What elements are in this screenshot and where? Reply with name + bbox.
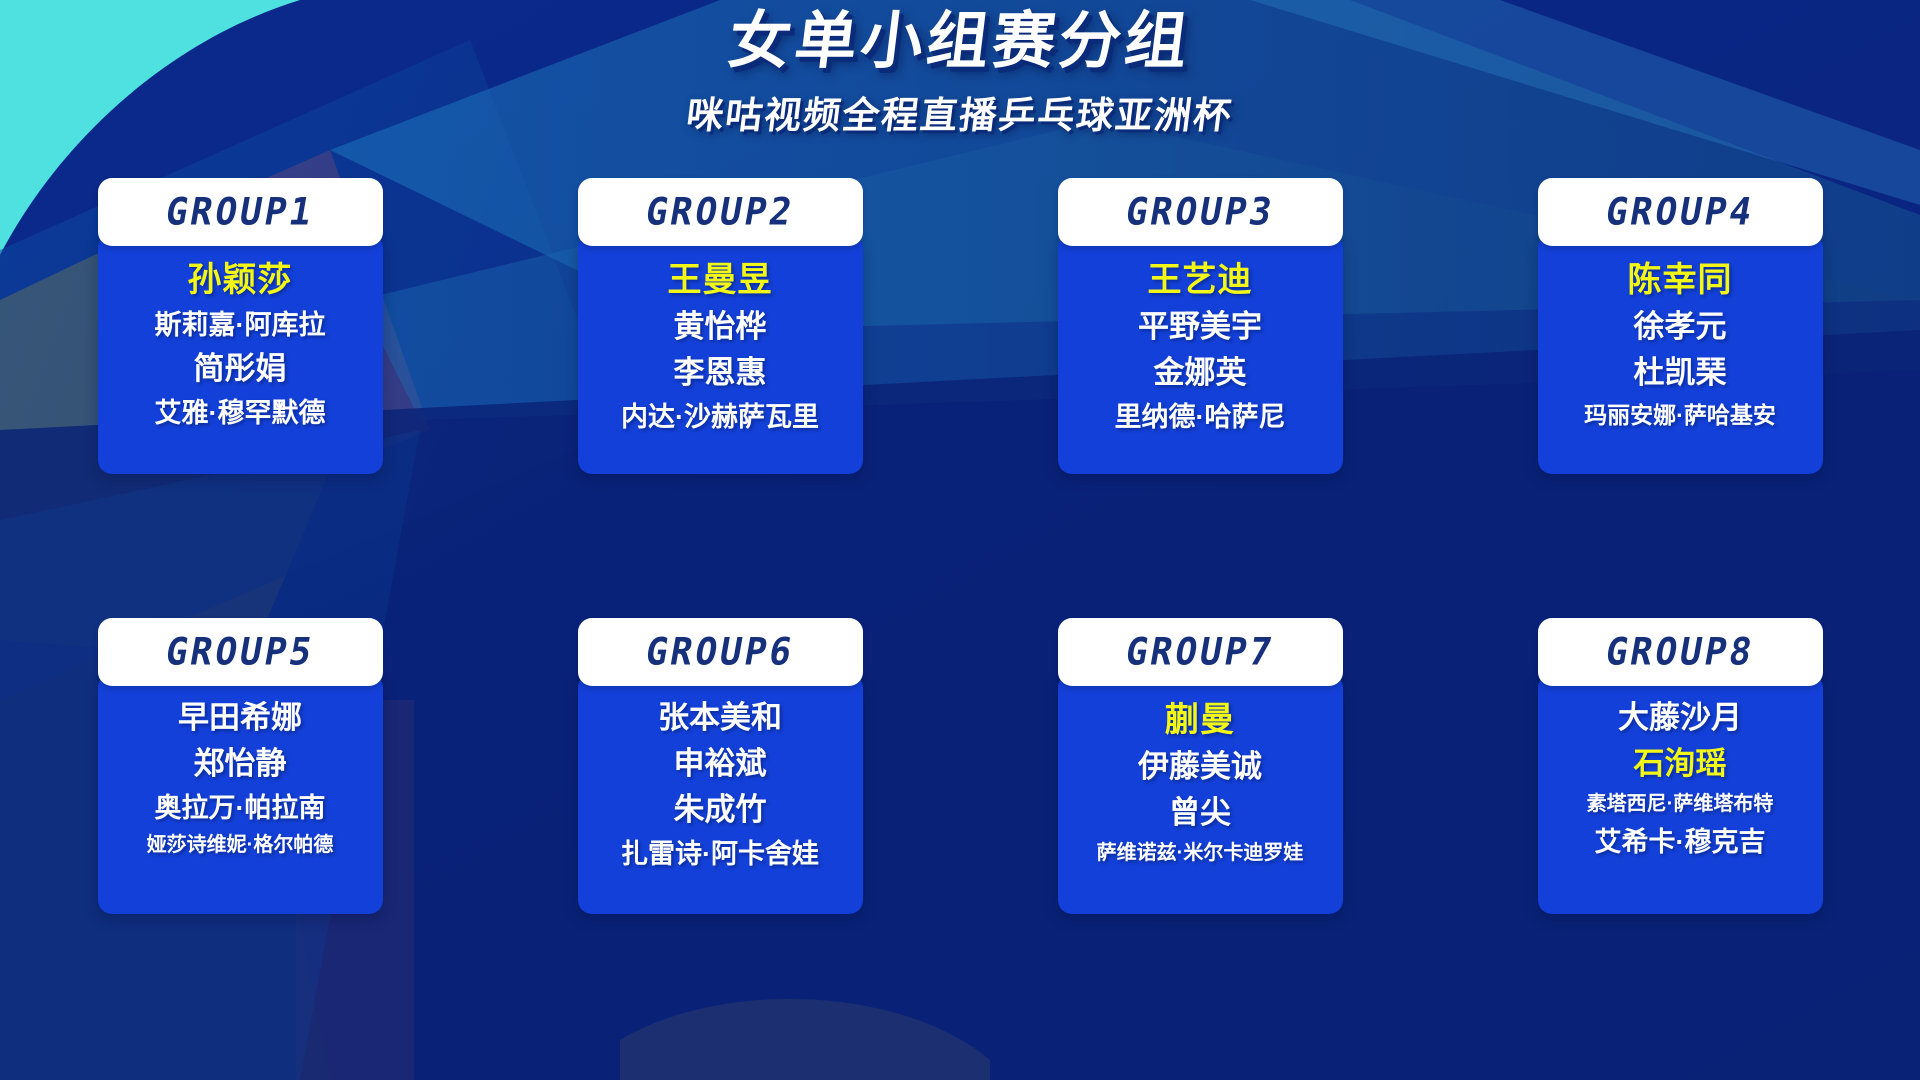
- player-name: 李恩惠: [674, 357, 767, 390]
- group-cell: GROUP1孙颖莎斯莉嘉·阿库拉简彤娟艾雅·穆罕默德: [0, 178, 480, 618]
- player-name: 娅莎诗维妮·格尔帕德: [147, 835, 334, 856]
- group-player-list: 张本美和申裕斌朱成竹扎雷诗·阿卡舍娃: [578, 674, 863, 914]
- group-name-label: GROUP3: [1122, 190, 1278, 233]
- player-name: 申裕斌: [674, 748, 767, 781]
- group-player-list: 王艺迪平野美宇金娜英里纳德·哈萨尼: [1058, 234, 1343, 474]
- player-name: 金娜英: [1154, 357, 1247, 390]
- group-cell: GROUP2王曼昱黄怡桦李恩惠内达·沙赫萨瓦里: [480, 178, 960, 618]
- player-name-seeded: 孙颖莎: [188, 262, 293, 298]
- player-name: 郑怡静: [194, 748, 287, 781]
- group-name-label: GROUP8: [1602, 630, 1758, 673]
- player-name: 扎雷诗·阿卡舍娃: [621, 840, 819, 869]
- player-name: 素塔西尼·萨维塔布特: [1587, 794, 1774, 815]
- group-card[interactable]: GROUP7蒯曼伊藤美诚曾尖萨维诺兹·米尔卡迪罗娃: [1058, 618, 1343, 914]
- group-player-list: 陈幸同徐孝元杜凯琹玛丽安娜·萨哈基安: [1538, 234, 1823, 474]
- group-card[interactable]: GROUP8大藤沙月石洵瑶素塔西尼·萨维塔布特艾希卡·穆克吉: [1538, 618, 1823, 914]
- group-card[interactable]: GROUP6张本美和申裕斌朱成竹扎雷诗·阿卡舍娃: [578, 618, 863, 914]
- player-name-seeded: 王曼昱: [668, 262, 773, 298]
- group-card[interactable]: GROUP2王曼昱黄怡桦李恩惠内达·沙赫萨瓦里: [578, 178, 863, 474]
- player-name: 平野美宇: [1138, 311, 1262, 344]
- group-name-label: GROUP6: [642, 630, 798, 673]
- group-player-list: 王曼昱黄怡桦李恩惠内达·沙赫萨瓦里: [578, 234, 863, 474]
- player-name: 内达·沙赫萨瓦里: [621, 403, 819, 432]
- player-name: 奥拉万·帕拉南: [155, 794, 326, 823]
- player-name: 简彤娟: [194, 353, 287, 386]
- player-name: 斯莉嘉·阿库拉: [155, 311, 326, 340]
- group-player-list: 大藤沙月石洵瑶素塔西尼·萨维塔布特艾希卡·穆克吉: [1538, 674, 1823, 914]
- group-card[interactable]: GROUP5早田希娜郑怡静奥拉万·帕拉南娅莎诗维妮·格尔帕德: [98, 618, 383, 914]
- player-name: 大藤沙月: [1618, 702, 1742, 735]
- group-name-label: GROUP7: [1122, 630, 1278, 673]
- player-name: 艾希卡·穆克吉: [1595, 828, 1766, 857]
- page-title: 女单小组赛分组: [725, 8, 1195, 75]
- group-cell: GROUP5早田希娜郑怡静奥拉万·帕拉南娅莎诗维妮·格尔帕德: [0, 618, 480, 1058]
- group-header: GROUP6: [578, 618, 863, 686]
- player-name-seeded: 蒯曼: [1165, 702, 1235, 738]
- group-header: GROUP8: [1538, 618, 1823, 686]
- player-name-seeded: 王艺迪: [1148, 262, 1253, 298]
- group-name-label: GROUP4: [1602, 190, 1758, 233]
- group-cell: GROUP4陈幸同徐孝元杜凯琹玛丽安娜·萨哈基安: [1440, 178, 1920, 618]
- group-header: GROUP3: [1058, 178, 1343, 246]
- group-name-label: GROUP2: [642, 190, 798, 233]
- player-name: 杜凯琹: [1634, 357, 1727, 390]
- player-name: 玛丽安娜·萨哈基安: [1584, 403, 1776, 427]
- group-cell: GROUP7蒯曼伊藤美诚曾尖萨维诺兹·米尔卡迪罗娃: [960, 618, 1440, 1058]
- group-card[interactable]: GROUP1孙颖莎斯莉嘉·阿库拉简彤娟艾雅·穆罕默德: [98, 178, 383, 474]
- player-name: 里纳德·哈萨尼: [1115, 403, 1286, 432]
- player-name-seeded: 石洵瑶: [1634, 748, 1727, 781]
- group-player-list: 早田希娜郑怡静奥拉万·帕拉南娅莎诗维妮·格尔帕德: [98, 674, 383, 914]
- group-cell: GROUP6张本美和申裕斌朱成竹扎雷诗·阿卡舍娃: [480, 618, 960, 1058]
- player-name: 萨维诺兹·米尔卡迪罗娃: [1097, 843, 1304, 864]
- group-cell: GROUP8大藤沙月石洵瑶素塔西尼·萨维塔布特艾希卡·穆克吉: [1440, 618, 1920, 1058]
- group-header: GROUP5: [98, 618, 383, 686]
- group-card[interactable]: GROUP3王艺迪平野美宇金娜英里纳德·哈萨尼: [1058, 178, 1343, 474]
- group-name-label: GROUP5: [162, 630, 318, 673]
- group-grid: GROUP1孙颖莎斯莉嘉·阿库拉简彤娟艾雅·穆罕默德GROUP2王曼昱黄怡桦李恩…: [0, 178, 1920, 1058]
- group-header: GROUP1: [98, 178, 383, 246]
- player-name: 曾尖: [1169, 797, 1231, 830]
- group-player-list: 孙颖莎斯莉嘉·阿库拉简彤娟艾雅·穆罕默德: [98, 234, 383, 474]
- player-name: 朱成竹: [674, 794, 767, 827]
- group-card[interactable]: GROUP4陈幸同徐孝元杜凯琹玛丽安娜·萨哈基安: [1538, 178, 1823, 474]
- player-name: 艾雅·穆罕默德: [155, 399, 326, 428]
- group-header: GROUP4: [1538, 178, 1823, 246]
- player-name: 伊藤美诚: [1138, 751, 1262, 784]
- header: 女单小组赛分组 咪咕视频全程直播乒乓球亚洲杯: [0, 0, 1920, 170]
- group-name-label: GROUP1: [162, 190, 318, 233]
- group-cell: GROUP3王艺迪平野美宇金娜英里纳德·哈萨尼: [960, 178, 1440, 618]
- player-name-seeded: 陈幸同: [1628, 262, 1733, 298]
- group-header: GROUP2: [578, 178, 863, 246]
- player-name: 早田希娜: [178, 702, 302, 735]
- group-header: GROUP7: [1058, 618, 1343, 686]
- player-name: 张本美和: [658, 702, 782, 735]
- page-subtitle: 咪咕视频全程直播乒乓球亚洲杯: [684, 85, 1237, 139]
- player-name: 黄怡桦: [674, 311, 767, 344]
- player-name: 徐孝元: [1634, 311, 1727, 344]
- group-player-list: 蒯曼伊藤美诚曾尖萨维诺兹·米尔卡迪罗娃: [1058, 674, 1343, 914]
